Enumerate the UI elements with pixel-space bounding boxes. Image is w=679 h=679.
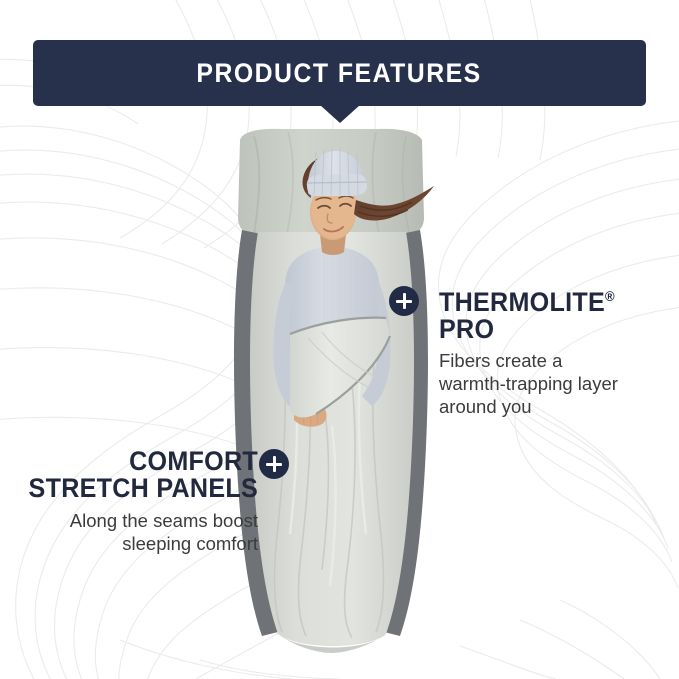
plus-badge-comfort-stretch-panels[interactable]	[259, 449, 289, 479]
callout-comfort-body: Along the seams boost sleeping comfort	[10, 509, 258, 555]
callout-thermolite-body-line-3: around you	[439, 395, 669, 418]
callout-thermolite: THERMOLITE® PRO Fibers create a warmth-t…	[439, 283, 669, 418]
callout-thermolite-heading: THERMOLITE®	[439, 283, 653, 316]
callout-comfort-body-line-2: sleeping comfort	[10, 532, 258, 555]
callout-comfort-stretch-panels: COMFORT STRETCH PANELS Along the seams b…	[10, 448, 258, 555]
product-features-infographic: PRODUCT FEATURES	[0, 0, 679, 679]
product-photo	[228, 126, 438, 660]
plus-badge-thermolite[interactable]	[389, 286, 419, 316]
registered-trademark-icon: ®	[605, 288, 615, 304]
header-arrow-tab	[320, 105, 360, 123]
header-banner: PRODUCT FEATURES	[33, 40, 646, 106]
callout-thermolite-body-line-1: Fibers create a	[439, 349, 669, 372]
callout-comfort-body-line-1: Along the seams boost	[10, 509, 258, 532]
callout-comfort-heading-line-1: COMFORT	[27, 448, 258, 475]
callout-thermolite-body-line-2: warmth-trapping layer	[439, 372, 669, 395]
callout-thermolite-body: Fibers create a warmth-trapping layer ar…	[439, 349, 669, 418]
callout-thermolite-heading-line-2: PRO	[439, 316, 653, 343]
callout-thermolite-heading-line-1: THERMOLITE	[439, 287, 605, 317]
page-title: PRODUCT FEATURES	[197, 58, 482, 89]
callout-comfort-heading-line-2: STRETCH PANELS	[27, 475, 258, 502]
